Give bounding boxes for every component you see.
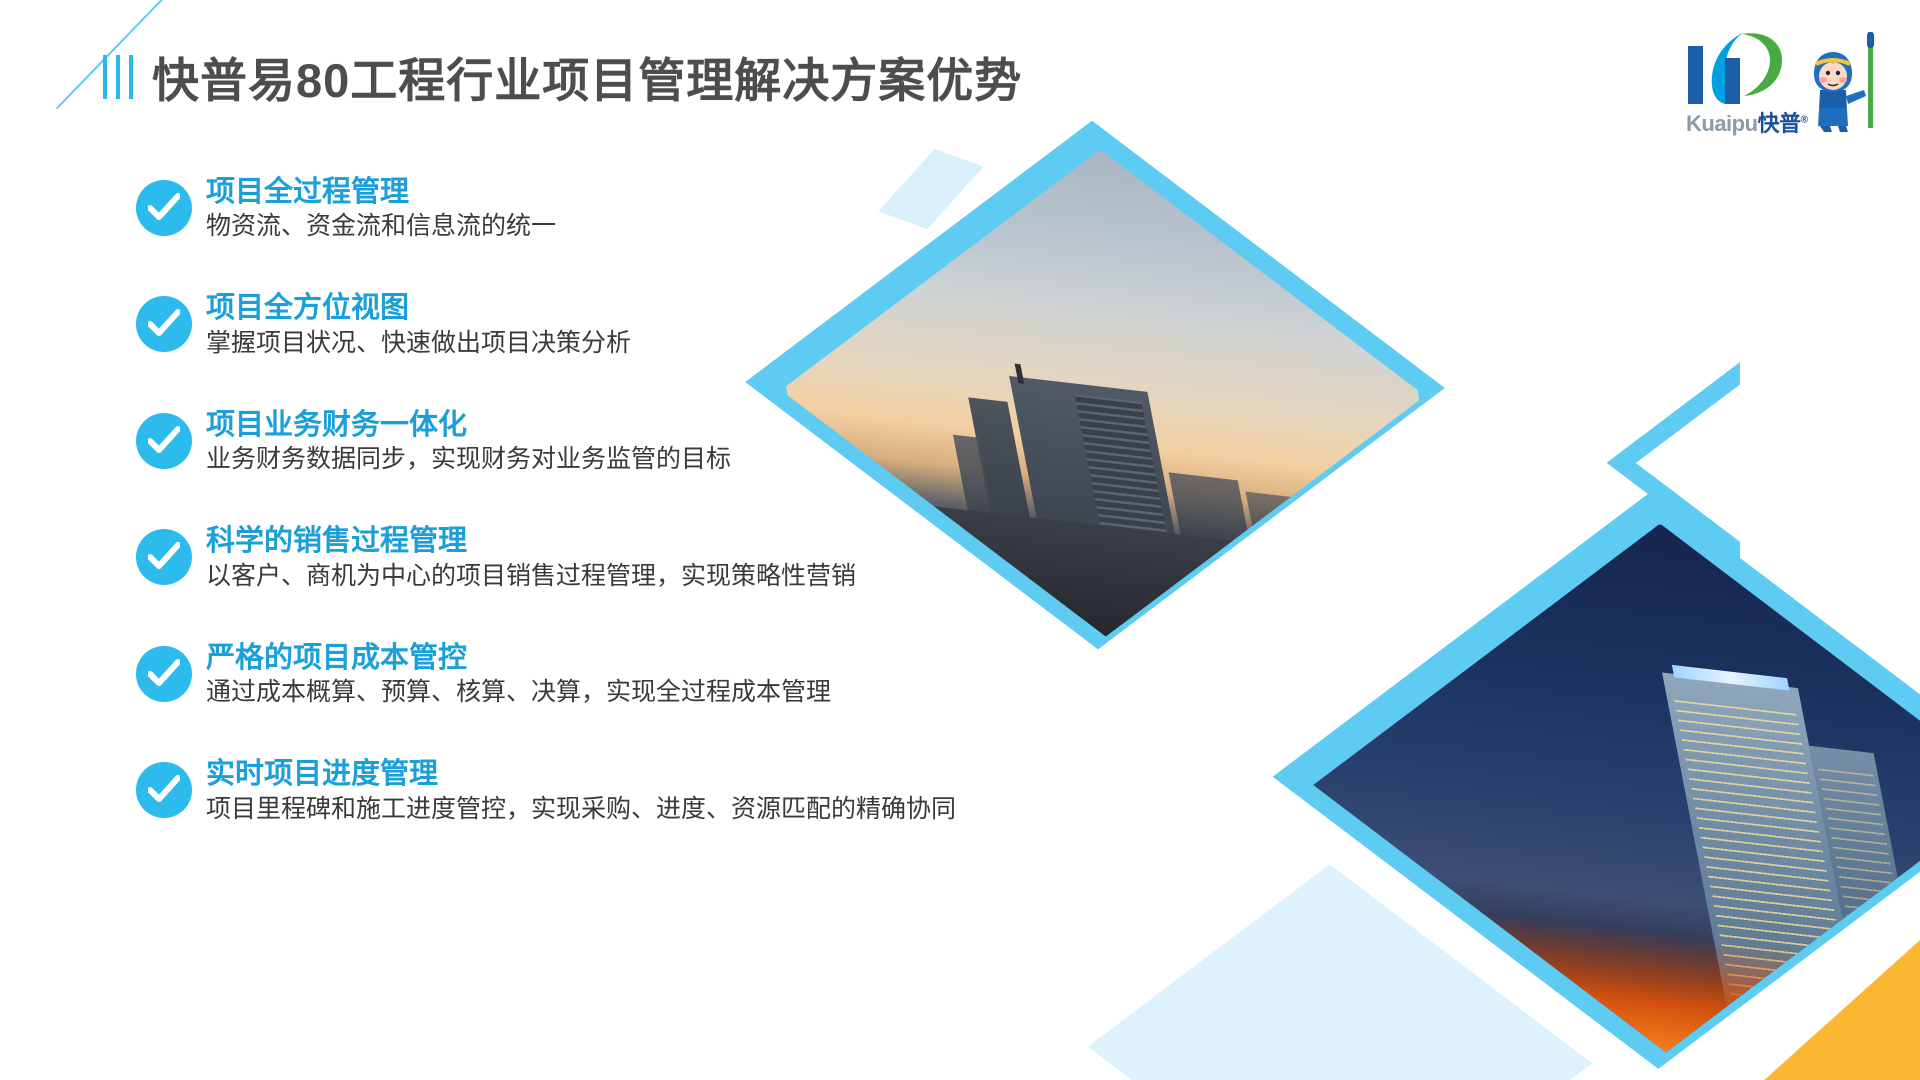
list-item-title: 科学的销售过程管理 — [206, 525, 856, 557]
logo-chinese: 快普 — [1758, 111, 1801, 136]
list-item-desc: 业务财务数据同步，实现财务对业务监管的目标 — [206, 443, 731, 475]
logo-latin: Kuaipu — [1686, 111, 1758, 136]
brand-logo: Kuaipu快普® — [1682, 26, 1892, 138]
cyan-chevron-outline-decoration — [1607, 262, 1920, 668]
three-vertical-bars-icon — [103, 55, 133, 99]
list-item-title: 实时项目进度管理 — [206, 758, 956, 790]
list-item-title: 项目全方位视图 — [206, 292, 631, 324]
chevron-mask-decoration — [1740, 250, 1920, 730]
orange-corner-wedge-decoration — [1730, 940, 1920, 1080]
list-item-title: 项目全过程管理 — [206, 176, 556, 208]
monkey-king-mascot-icon — [1800, 30, 1886, 134]
list-item[interactable]: 项目全方位视图 掌握项目状况、快速做出项目决策分析 — [136, 292, 1116, 358]
list-item[interactable]: 严格的项目成本管控 通过成本概算、预算、核算、决算，实现全过程成本管理 — [136, 642, 1116, 708]
list-item[interactable]: 科学的销售过程管理 以客户、商机为中心的项目销售过程管理，实现策略性营销 — [136, 525, 1116, 591]
check-circle-icon — [136, 646, 192, 702]
list-item-text: 项目业务财务一体化 业务财务数据同步，实现财务对业务监管的目标 — [206, 409, 731, 475]
list-item-desc: 物资流、资金流和信息流的统一 — [206, 210, 556, 242]
kp-monogram-icon — [1682, 28, 1792, 106]
check-circle-icon — [136, 529, 192, 585]
list-item-desc: 掌握项目状况、快速做出项目决策分析 — [206, 327, 631, 359]
list-item[interactable]: 项目业务财务一体化 业务财务数据同步，实现财务对业务监管的目标 — [136, 409, 1116, 475]
slide-header: 快普易80工程行业项目管理解决方案优势 — [0, 0, 1920, 150]
list-item-text: 严格的项目成本管控 通过成本概算、预算、核算、决算，实现全过程成本管理 — [206, 642, 831, 708]
list-item-desc: 项目里程碑和施工进度管控，实现采购、进度、资源匹配的精确协同 — [206, 793, 956, 825]
list-item-text: 实时项目进度管理 项目里程碑和施工进度管控，实现采购、进度、资源匹配的精确协同 — [206, 758, 956, 824]
check-circle-icon — [136, 296, 192, 352]
photo-frame-lower-border — [1273, 491, 1920, 1069]
list-item-text: 项目全过程管理 物资流、资金流和信息流的统一 — [206, 176, 556, 242]
logo-wordmark: Kuaipu快普® — [1686, 106, 1807, 138]
check-circle-icon — [136, 180, 192, 236]
list-item-title: 项目业务财务一体化 — [206, 409, 731, 441]
city-tower-night-photo — [1313, 524, 1920, 1053]
list-item-desc: 以客户、商机为中心的项目销售过程管理，实现策略性营销 — [206, 560, 856, 592]
advantages-list: 项目全过程管理 物资流、资金流和信息流的统一 项目全方位视图 掌握项目状况、快速… — [136, 176, 1116, 875]
page-title: 快普易80工程行业项目管理解决方案优势 — [152, 42, 1022, 111]
slide-canvas: 快普易80工程行业项目管理解决方案优势 — [0, 0, 1920, 1080]
list-item-text: 科学的销售过程管理 以客户、商机为中心的项目销售过程管理，实现策略性营销 — [206, 525, 856, 591]
list-item[interactable]: 实时项目进度管理 项目里程碑和施工进度管控，实现采购、进度、资源匹配的精确协同 — [136, 758, 1116, 824]
pale-diagonal-band-decoration — [1088, 864, 1592, 1080]
list-item[interactable]: 项目全过程管理 物资流、资金流和信息流的统一 — [136, 176, 1116, 242]
list-item-title: 严格的项目成本管控 — [206, 642, 831, 674]
check-circle-icon — [136, 413, 192, 469]
check-circle-icon — [136, 762, 192, 818]
list-item-text: 项目全方位视图 掌握项目状况、快速做出项目决策分析 — [206, 292, 631, 358]
list-item-desc: 通过成本概算、预算、核算、决算，实现全过程成本管理 — [206, 676, 831, 708]
registered-mark: ® — [1801, 115, 1808, 126]
